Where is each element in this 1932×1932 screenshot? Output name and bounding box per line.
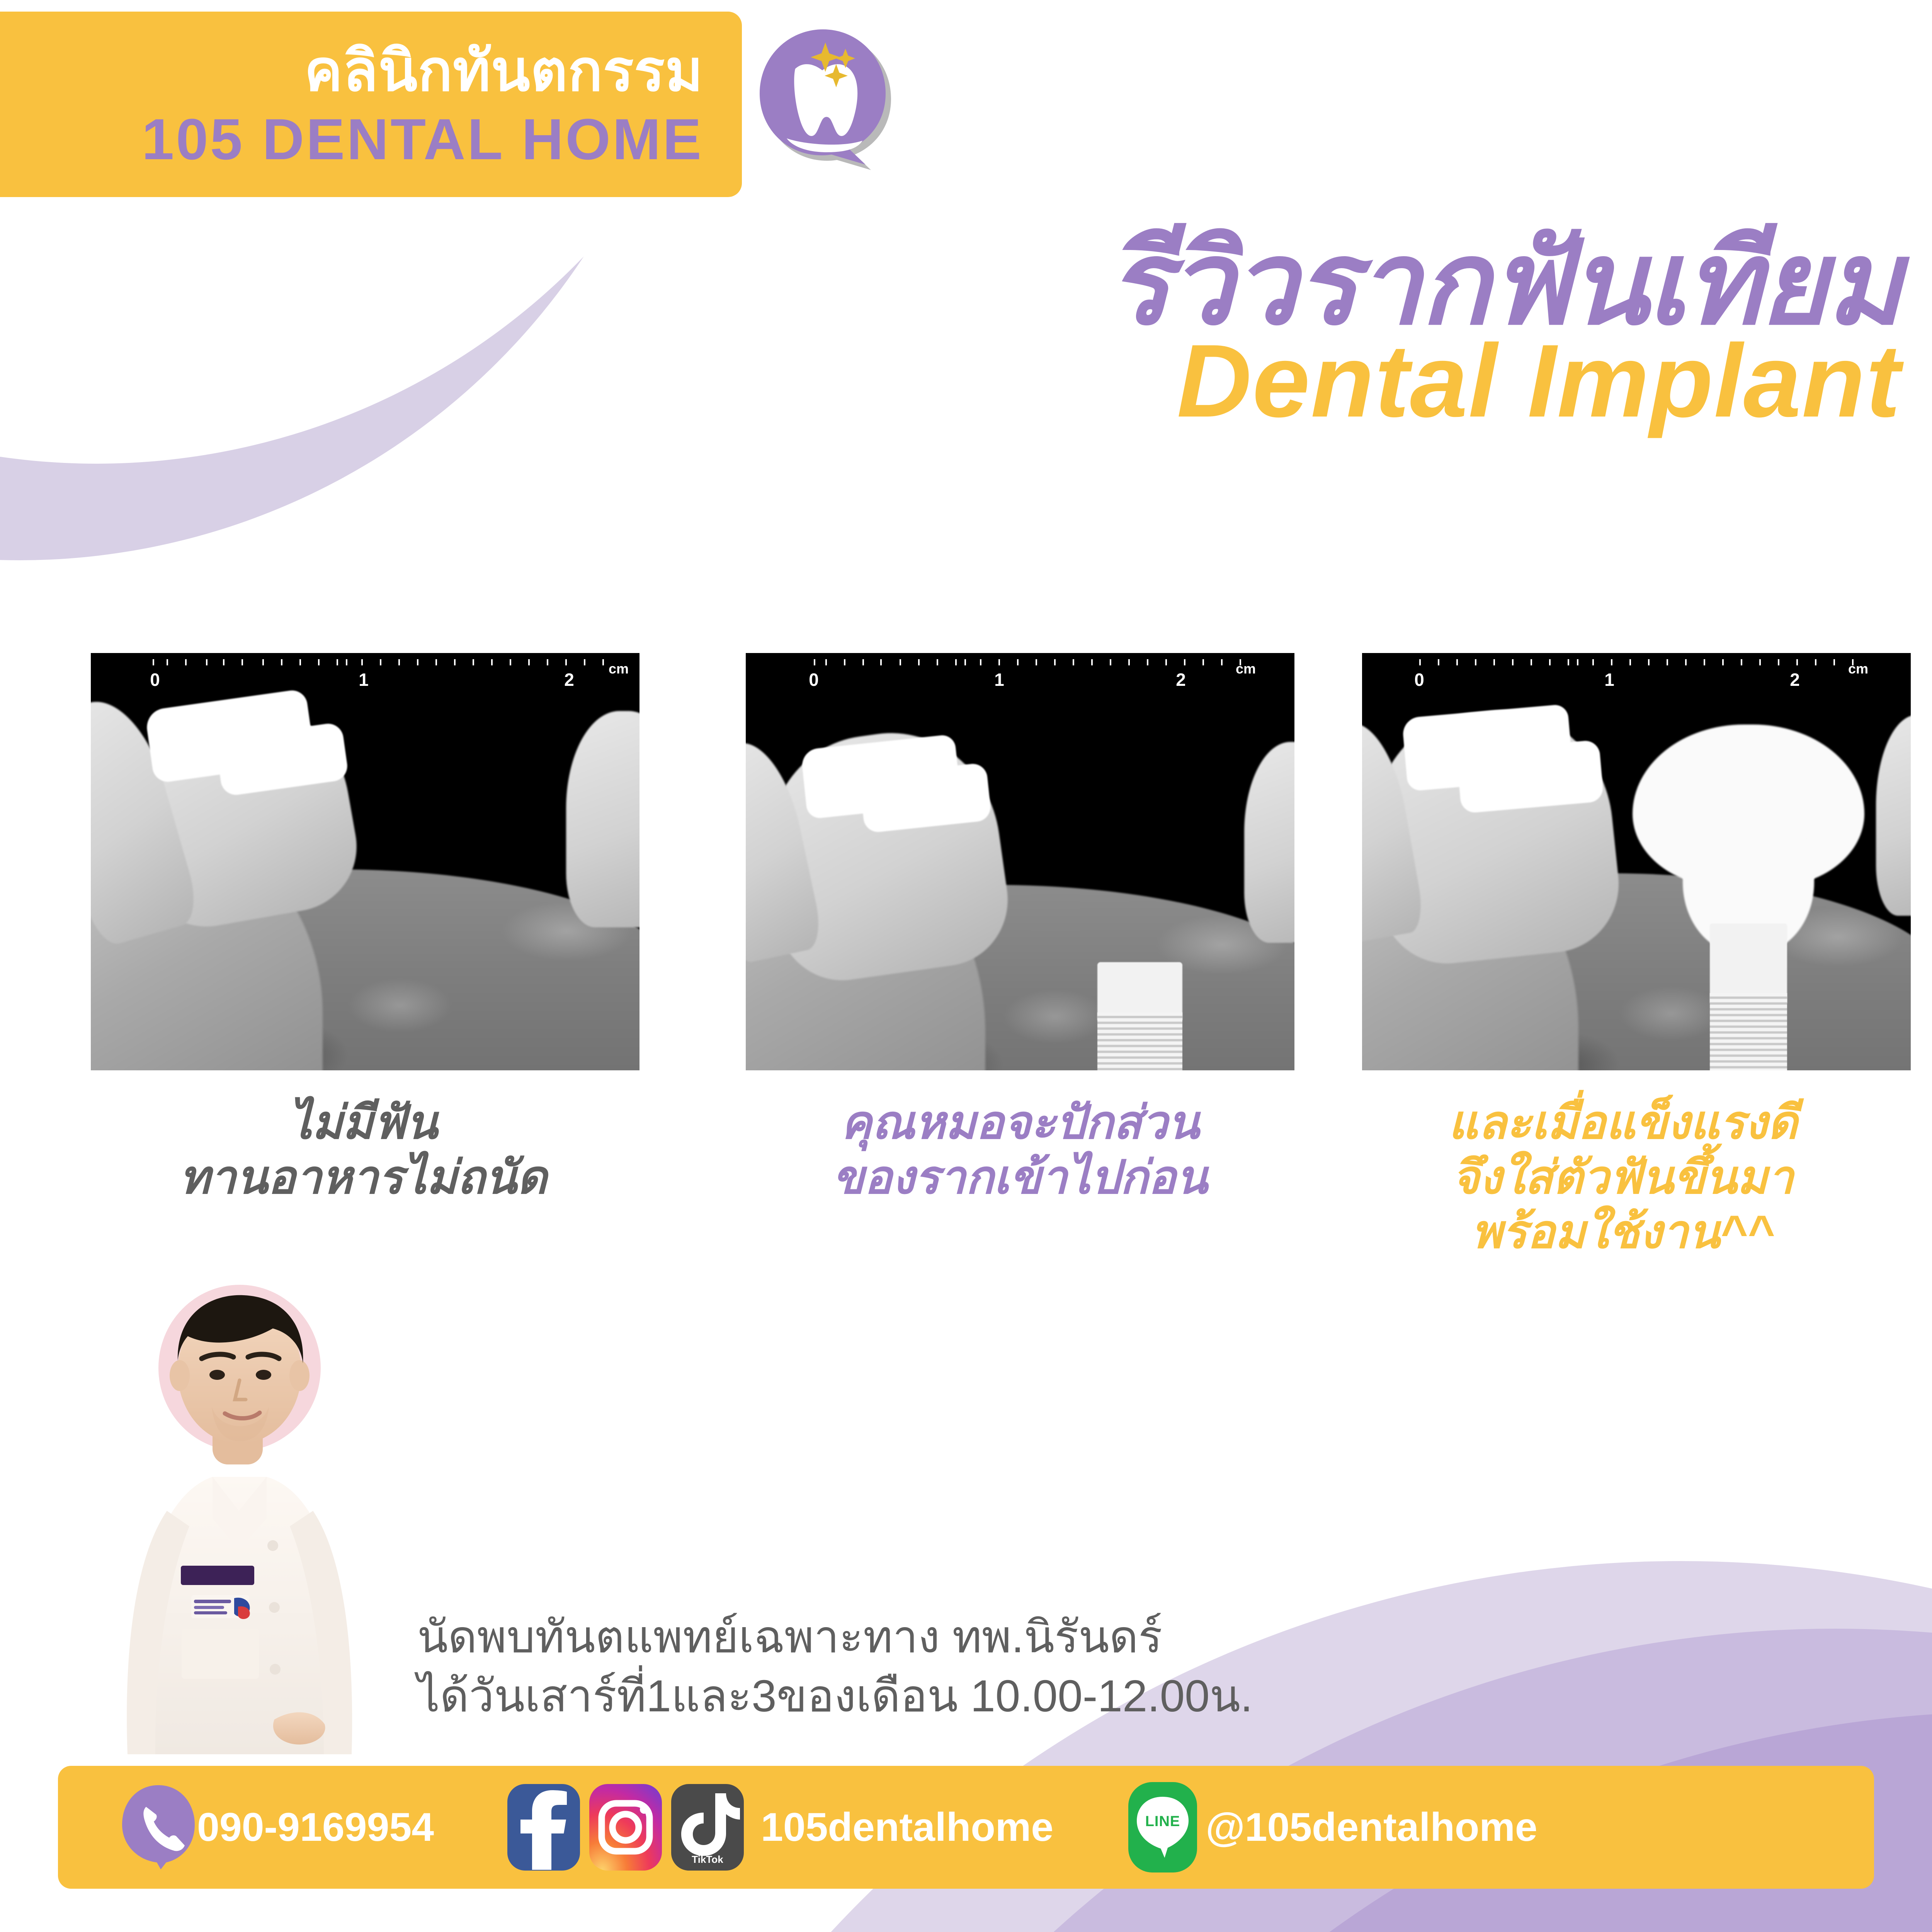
line-icon[interactable]: LINE <box>1127 1781 1199 1874</box>
page-title: รีวิวรากฟันเทียม Dental Implant <box>618 228 1901 432</box>
ruler-tick-2: 2 <box>1790 669 1800 690</box>
xray-gallery: 0 1 2 cm <box>0 653 1932 1070</box>
ruler-tick-1: 1 <box>359 669 369 690</box>
brand-thai-name: คลินิกทันตกรรม <box>0 43 703 100</box>
social-contact[interactable]: TikTok 105dentalhome <box>506 1782 1053 1872</box>
tiktok-icon[interactable]: TikTok <box>670 1782 745 1872</box>
appointment-line-1: นัดพบทันตแพทย์เฉพาะทาง ทพ.นิรันดร์ <box>417 1607 1577 1667</box>
tiktok-wordmark: TikTok <box>692 1854 723 1865</box>
xray-ruler-2: 0 1 2 cm <box>746 658 1294 695</box>
xray-image-1: 0 1 2 cm <box>91 653 639 1070</box>
tooth-in-speech-bubble-icon <box>750 27 904 182</box>
poster-canvas: คลินิกทันตกรรม 105 DENTAL HOME รีวิวรากฟ… <box>0 0 1932 1932</box>
phone-number[interactable]: 090-9169954 <box>197 1804 434 1850</box>
xray-ruler-1: 0 1 2 cm <box>91 658 639 695</box>
caption-2-line-1: คุณหมอจะปักส่วน <box>711 1095 1329 1150</box>
step-caption-1: ไม่มีฟัน ทานอาหารไม่ถนัด <box>58 1095 668 1205</box>
xray-image-2: 0 1 2 cm <box>746 653 1294 1070</box>
brand-banner: คลินิกทันตกรรม 105 DENTAL HOME <box>0 12 742 197</box>
instagram-icon[interactable] <box>588 1782 663 1872</box>
contact-footer: 090-9169954 <box>58 1766 1874 1889</box>
line-wordmark: LINE <box>1145 1813 1180 1830</box>
step-caption-2: คุณหมอจะปักส่วน ของรากเข้าไปก่อน <box>711 1095 1329 1205</box>
ruler-tick-2: 2 <box>1176 669 1186 690</box>
appointment-line-2: ได้วันเสาร์ที่1และ3ของเดือน 10.00-12.00น… <box>417 1667 1577 1726</box>
caption-3-line-1: และเมื่อแข็งแรงดี <box>1337 1095 1909 1150</box>
ruler-unit-3: cm <box>1848 661 1868 677</box>
ruler-tick-0: 0 <box>150 669 160 690</box>
caption-1-line-1: ไม่มีฟัน <box>58 1095 668 1150</box>
phone-icon[interactable] <box>120 1783 197 1872</box>
xray-ruler-3: 0 1 2 cm <box>1362 658 1911 695</box>
caption-1-line-2: ทานอาหารไม่ถนัด <box>58 1150 668 1205</box>
title-english: Dental Implant <box>618 329 1901 432</box>
ruler-tick-0: 0 <box>1414 669 1424 690</box>
title-thai: รีวิวรากฟันเทียม <box>618 228 1901 338</box>
ruler-tick-0: 0 <box>809 669 819 690</box>
phone-contact[interactable]: 090-9169954 <box>120 1783 434 1872</box>
xray-image-3: 0 1 2 cm <box>1362 653 1911 1070</box>
brand-english-name: 105 DENTAL HOME <box>0 110 703 168</box>
caption-2-line-2: ของรากเข้าไปก่อน <box>711 1150 1329 1205</box>
caption-3-line-3: พร้อมใช้งาน^^ <box>1337 1205 1909 1260</box>
ruler-tick-2: 2 <box>564 669 574 690</box>
line-contact[interactable]: LINE @105dentalhome <box>1127 1781 1537 1874</box>
ruler-unit-2: cm <box>1236 661 1256 677</box>
ruler-tick-1: 1 <box>994 669 1004 690</box>
social-handle[interactable]: 105dentalhome <box>761 1804 1053 1850</box>
line-id[interactable]: @105dentalhome <box>1206 1804 1537 1850</box>
facebook-icon[interactable] <box>506 1782 582 1872</box>
step-caption-3: และเมื่อแข็งแรงดี จึงใส่ตัวฟันขึ้นมา พร้… <box>1337 1095 1909 1260</box>
dentist-photo <box>58 1279 375 1801</box>
appointment-info: นัดพบทันตแพทย์เฉพาะทาง ทพ.นิรันดร์ ได้วั… <box>417 1607 1577 1726</box>
ruler-tick-1: 1 <box>1604 669 1614 690</box>
dentist-portrait-illustration <box>58 1279 375 1801</box>
clinic-logo <box>750 27 904 182</box>
ruler-unit-1: cm <box>609 661 629 677</box>
caption-3-line-2: จึงใส่ตัวฟันขึ้นมา <box>1337 1150 1909 1205</box>
